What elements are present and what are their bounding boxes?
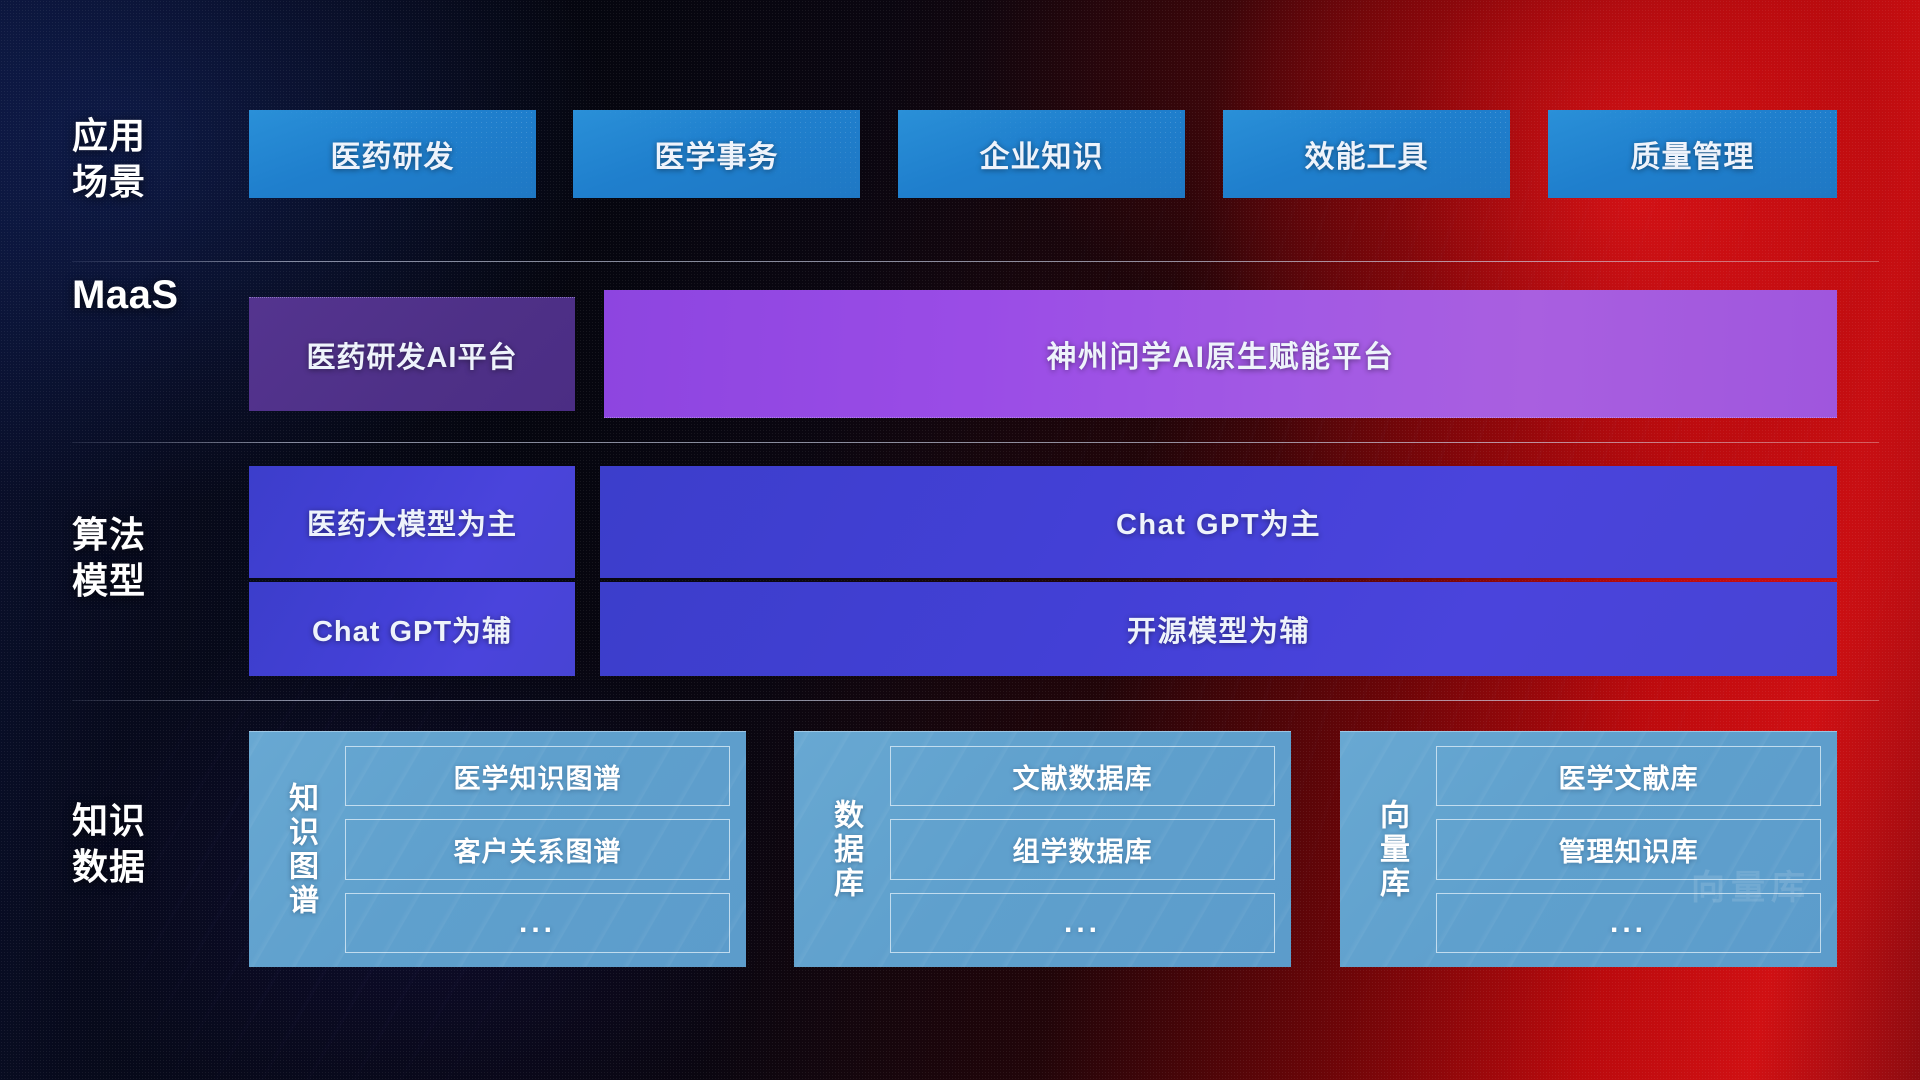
- knowledge-item-3-3[interactable]: ...: [1436, 893, 1821, 953]
- knowledge-panel-vector-store[interactable]: 向量库 向量库 医学文献库 管理知识库 ...: [1340, 731, 1837, 967]
- maas-platform-label-right: 神州问学AI原生赋能平台: [1047, 332, 1395, 376]
- knowledge-panel-database[interactable]: 数据库 文献数据库 组学数据库 ...: [794, 731, 1291, 967]
- algorithm-box-row1-right[interactable]: Chat GPT为主: [600, 466, 1837, 578]
- knowledge-panel-title-2: 数据库: [806, 746, 884, 953]
- knowledge-item-2-1[interactable]: 文献数据库: [890, 746, 1275, 806]
- knowledge-panel-items-2: 文献数据库 组学数据库 ...: [884, 746, 1275, 953]
- knowledge-item-1-1[interactable]: 医学知识图谱: [345, 746, 730, 806]
- divider-after-maas: [72, 442, 1879, 443]
- knowledge-panel-title-1: 知识图谱: [261, 746, 339, 953]
- knowledge-panel-title-3: 向量库: [1352, 746, 1430, 953]
- algorithm-label-row1-left: 医药大模型为主: [307, 501, 517, 543]
- algorithm-label-row1-right: Chat GPT为主: [1116, 501, 1321, 543]
- knowledge-item-1-3[interactable]: ...: [345, 893, 730, 953]
- algorithm-box-row2-right[interactable]: 开源模型为辅: [600, 582, 1837, 676]
- app-scenario-box-2[interactable]: 医学事务: [573, 110, 860, 198]
- knowledge-item-3-2[interactable]: 管理知识库: [1436, 819, 1821, 879]
- knowledge-panel-knowledge-graph[interactable]: 知识图谱 医学知识图谱 客户关系图谱 ...: [249, 731, 746, 967]
- app-scenario-label-5: 质量管理: [1631, 132, 1755, 176]
- architecture-diagram: 应用 场景 医药研发 医学事务 企业知识 效能工具 质量管理 MaaS 医药研发…: [0, 0, 1920, 1080]
- knowledge-item-3-1[interactable]: 医学文献库: [1436, 746, 1821, 806]
- app-scenario-label-2: 医学事务: [655, 132, 779, 176]
- maas-platform-box-right[interactable]: 神州问学AI原生赋能平台: [604, 290, 1837, 418]
- divider-after-algorithm-model: [72, 700, 1879, 701]
- knowledge-item-2-3[interactable]: ...: [890, 893, 1275, 953]
- algorithm-box-row2-left[interactable]: Chat GPT为辅: [249, 582, 575, 676]
- knowledge-panel-items-1: 医学知识图谱 客户关系图谱 ...: [339, 746, 730, 953]
- maas-platform-label-left: 医药研发AI平台: [306, 334, 517, 376]
- row-label-application-scenarios: 应用 场景: [72, 113, 232, 205]
- app-scenario-box-1[interactable]: 医药研发: [249, 110, 536, 198]
- algorithm-box-row1-left[interactable]: 医药大模型为主: [249, 466, 575, 578]
- app-scenario-box-3[interactable]: 企业知识: [898, 110, 1185, 198]
- knowledge-item-2-2[interactable]: 组学数据库: [890, 819, 1275, 879]
- app-scenario-box-4[interactable]: 效能工具: [1223, 110, 1510, 198]
- app-scenario-label-4: 效能工具: [1305, 132, 1429, 176]
- knowledge-panel-items-3: 医学文献库 管理知识库 ...: [1430, 746, 1821, 953]
- row-label-knowledge-data: 知识 数据: [72, 798, 232, 890]
- row-label-maas: MaaS: [72, 272, 232, 318]
- knowledge-item-1-2[interactable]: 客户关系图谱: [345, 819, 730, 879]
- divider-after-application-scenarios: [72, 261, 1879, 262]
- row-label-algorithm-model: 算法 模型: [72, 512, 232, 604]
- algorithm-label-row2-right: 开源模型为辅: [1127, 608, 1310, 650]
- app-scenario-label-1: 医药研发: [331, 132, 455, 176]
- app-scenario-box-5[interactable]: 质量管理: [1548, 110, 1837, 198]
- maas-platform-box-left[interactable]: 医药研发AI平台: [249, 297, 575, 411]
- app-scenario-label-3: 企业知识: [980, 132, 1104, 176]
- algorithm-label-row2-left: Chat GPT为辅: [312, 608, 512, 650]
